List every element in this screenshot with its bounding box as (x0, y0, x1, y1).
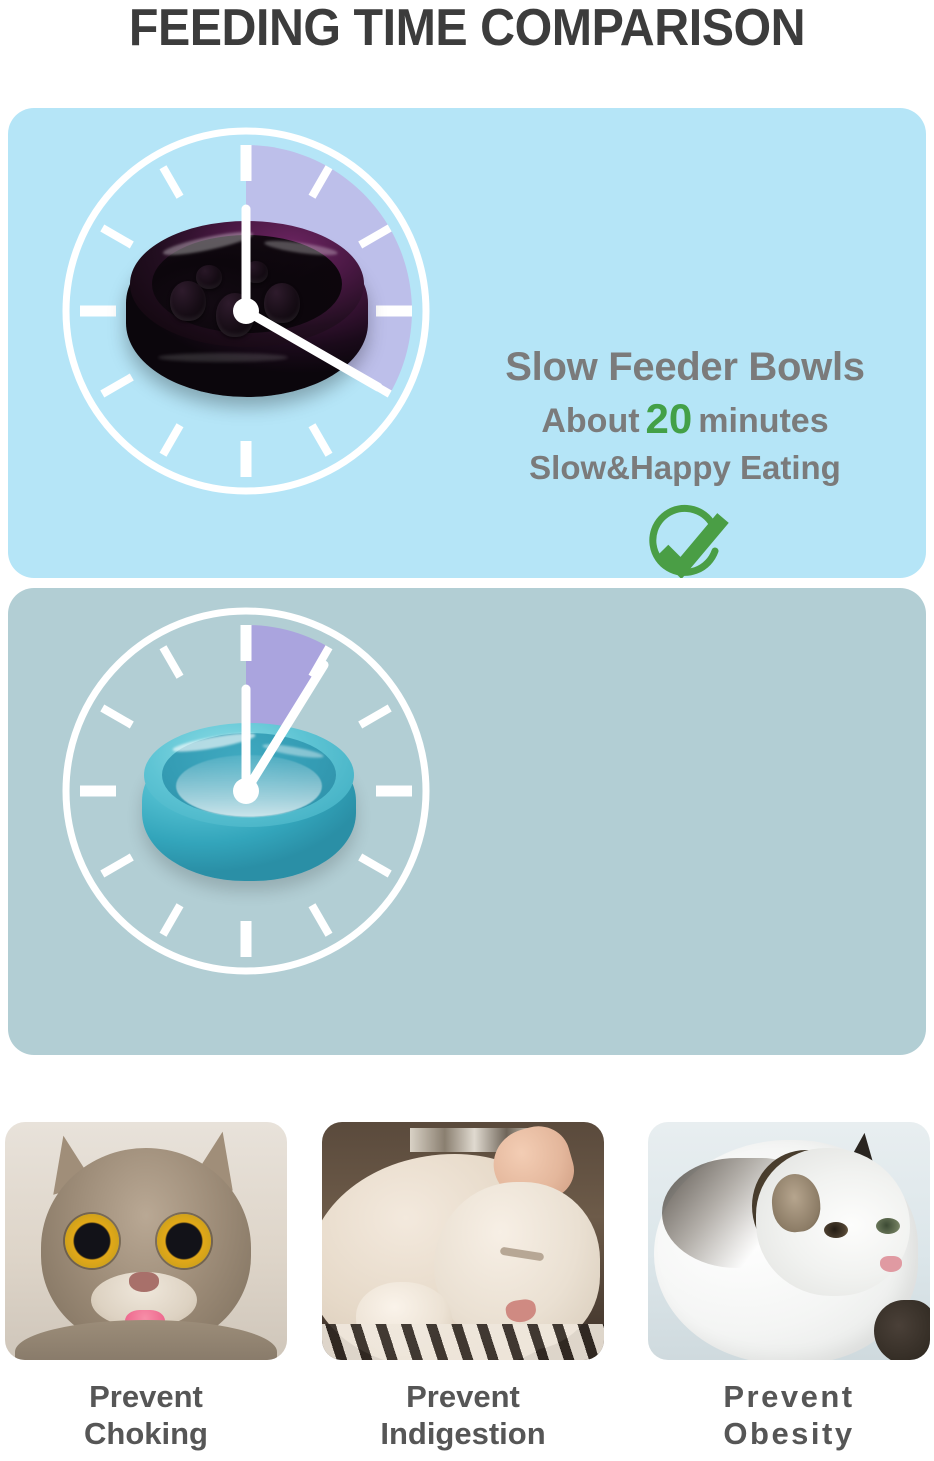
cat-chest (15, 1320, 277, 1360)
photo-cat-surprised-tongue-out (5, 1122, 287, 1360)
headline-slow-feeder: Slow Feeder Bowls (440, 344, 926, 390)
subline-prefix: About (541, 402, 639, 440)
caption-line-2: Obesity (648, 1415, 930, 1452)
photo-cat-obese-white-tabby (648, 1122, 930, 1360)
text-block-slow-feeder: Slow Feeder Bowls About20minutes Slow&Ha… (440, 344, 926, 578)
tagline-slow-feeder: Slow&Happy Eating (440, 448, 926, 488)
caption-line-1: Prevent (322, 1378, 604, 1415)
page-title: FEEDING TIME COMPARISON (33, 0, 902, 60)
minute-hand-slow (246, 311, 378, 387)
caption-prevent-choking: Prevent Choking (5, 1378, 287, 1452)
cat-eye-left (65, 1214, 119, 1268)
cat-tail (874, 1300, 930, 1360)
caption-prevent-indigestion: Prevent Indigestion (322, 1378, 604, 1452)
clock-center-cap-slow (233, 298, 259, 324)
subline-slow-feeder: About20minutes (440, 398, 926, 442)
cat-eye-right (876, 1218, 900, 1234)
cat-nose (129, 1272, 159, 1292)
verdict-slow-feeder (440, 500, 926, 578)
benefit-cards: Prevent Choking Prevent Indigestion (0, 1122, 934, 1461)
caption-line-1: Prevent (5, 1378, 287, 1415)
check-circle-icon (637, 504, 733, 578)
benefit-card-prevent-indigestion: Prevent Indigestion (322, 1122, 604, 1452)
infographic-page: FEEDING TIME COMPARISON (0, 0, 934, 1461)
photo-cat-sleeping-cream (322, 1122, 604, 1360)
clock-slow-feeder (56, 121, 436, 501)
clock-center-cap-ordinary (233, 778, 259, 804)
duration-value-slow: 20 (640, 395, 699, 442)
background-rug (322, 1324, 604, 1360)
caption-line-1: Prevent (648, 1378, 930, 1415)
panel-slow-feeder: Slow Feeder Bowls About20minutes Slow&Ha… (8, 108, 926, 578)
panel-ordinary-bowl: Ordinary Pet Bowls Less than5minutes Unh… (8, 588, 926, 1055)
benefit-card-prevent-obesity: Prevent Obesity (648, 1122, 930, 1452)
cat-nose (880, 1256, 902, 1272)
clock-hands-ordinary (56, 601, 436, 981)
benefit-card-prevent-choking: Prevent Choking (5, 1122, 287, 1452)
caption-line-2: Indigestion (322, 1415, 604, 1452)
minute-hand-ordinary (246, 665, 324, 791)
cat-eye-right (157, 1214, 211, 1268)
clock-hands-slow (56, 121, 436, 501)
caption-prevent-obesity: Prevent Obesity (648, 1378, 930, 1452)
subline-suffix: minutes (698, 402, 828, 440)
caption-line-2: Choking (5, 1415, 287, 1452)
cat-eye-left (824, 1222, 848, 1238)
clock-ordinary-bowl (56, 601, 436, 981)
